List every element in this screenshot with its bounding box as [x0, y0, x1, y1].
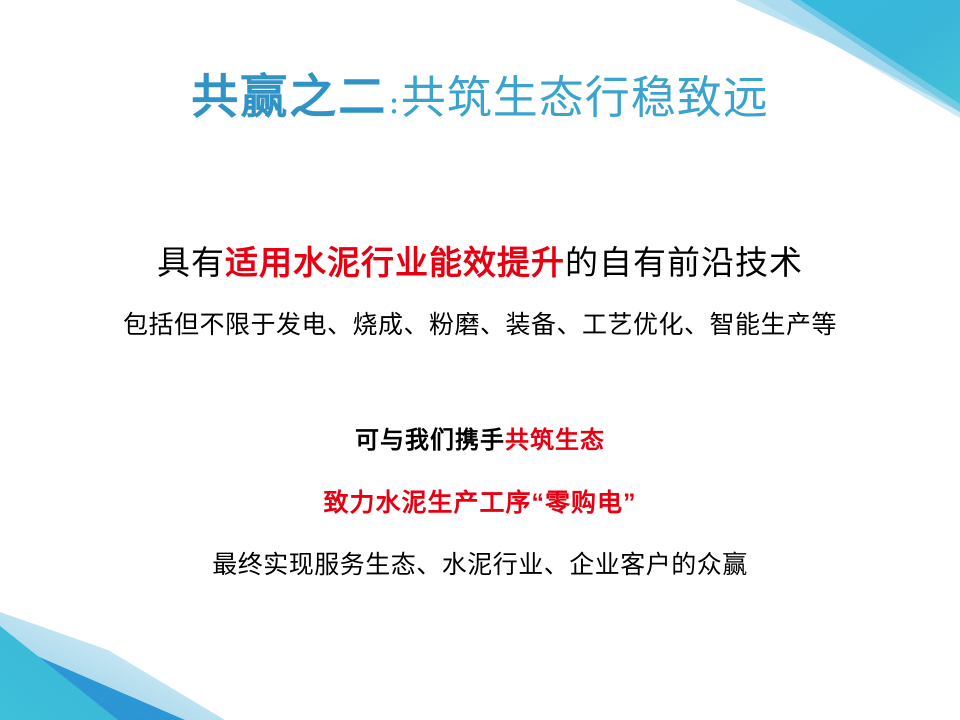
text-line-partnership: 可与我们携手共筑生态 — [0, 420, 960, 455]
text-line-winwin: 最终实现服务生态、水泥行业、企业客户的众赢 — [0, 545, 960, 581]
title-main-text: 共赢之二 — [191, 70, 387, 125]
title-subtitle-text: 共筑生态行稳致远 — [401, 71, 769, 124]
ribbon-bottom-left-blue — [0, 640, 185, 720]
text-line-scope: 包括但不限于发电、烧成、粉磨、装备、工艺优化、智能生产等 — [0, 305, 960, 341]
text-line-zero-power: 致力水泥生产工序“零购电” — [0, 483, 960, 519]
page-title: 共赢之二:共筑生态行稳致远 — [0, 58, 960, 127]
scope-text: 包括但不限于发电、烧成、粉磨、装备、工艺优化、智能生产等 — [123, 311, 837, 339]
ribbon-bottom-left-light — [0, 612, 225, 720]
tech-suffix: 的自有前沿技术 — [565, 244, 803, 281]
slide-canvas: 共赢之二:共筑生态行稳致远 具有适用水泥行业能效提升的自有前沿技术 包括但不限于… — [0, 0, 960, 720]
ribbon-bottom-left-cyan — [0, 626, 118, 720]
partner-prefix: 可与我们携手 — [355, 427, 505, 454]
winwin-text: 最终实现服务生态、水泥行业、企业客户的众赢 — [212, 551, 748, 579]
zero-power-text: 致力水泥生产工序“零购电” — [323, 489, 636, 517]
tech-highlight: 适用水泥行业能效提升 — [225, 244, 565, 281]
title-separator: : — [387, 82, 400, 122]
partner-highlight: 共筑生态 — [505, 427, 605, 454]
text-line-technology: 具有适用水泥行业能效提升的自有前沿技术 — [0, 236, 960, 284]
tech-prefix: 具有 — [157, 244, 225, 281]
